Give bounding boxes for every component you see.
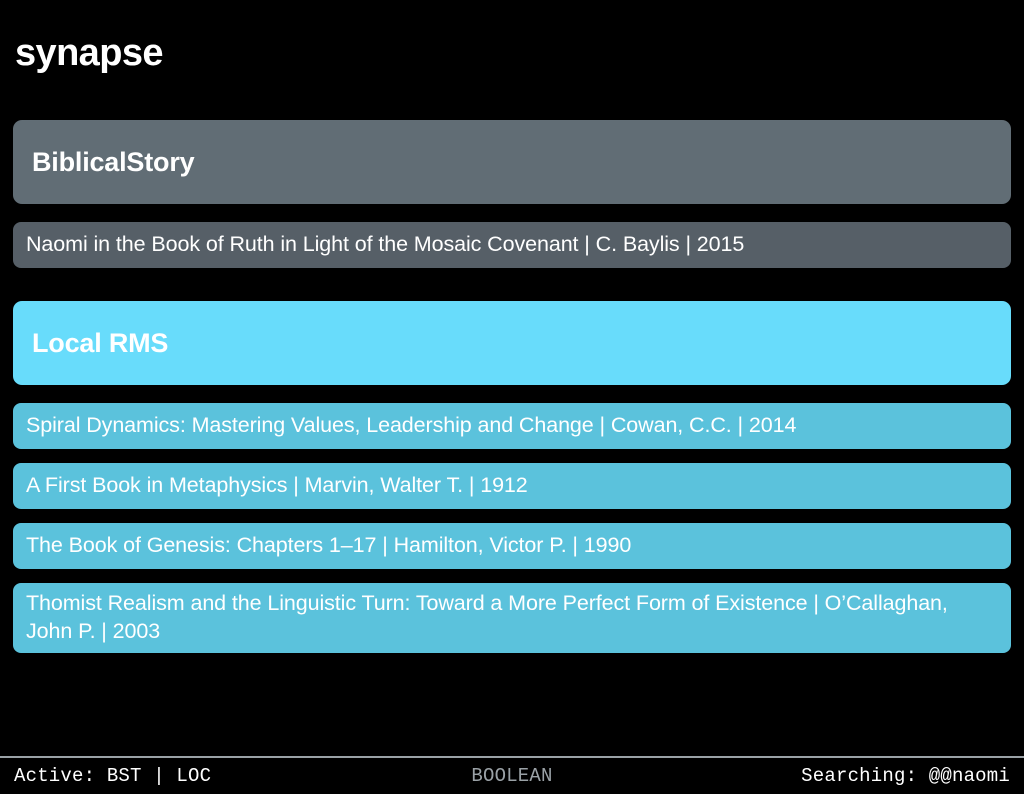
section-title: BiblicalStory — [32, 147, 194, 178]
status-active-sources: Active: BST | LOC — [14, 765, 211, 787]
result-list-biblicalstory: Naomi in the Book of Ruth in Light of th… — [13, 222, 1011, 268]
section-header-biblicalstory[interactable]: BiblicalStory — [13, 120, 1011, 204]
app-logo: synapse — [15, 34, 1024, 72]
brand-bar: synapse — [0, 0, 1024, 120]
result-row[interactable]: Thomist Realism and the Linguistic Turn:… — [13, 583, 1011, 653]
section-header-local-rms[interactable]: Local RMS — [13, 301, 1011, 385]
result-row[interactable]: Spiral Dynamics: Mastering Values, Leade… — [13, 403, 1011, 449]
status-bar: Active: BST | LOC BOOLEAN Searching: @@n… — [0, 756, 1024, 794]
result-row[interactable]: A First Book in Metaphysics | Marvin, Wa… — [13, 463, 1011, 509]
section-local-rms: Local RMSSpiral Dynamics: Mastering Valu… — [13, 301, 1011, 653]
result-list-local-rms: Spiral Dynamics: Mastering Values, Leade… — [13, 403, 1011, 653]
results-container: BiblicalStoryNaomi in the Book of Ruth i… — [0, 120, 1024, 653]
section-title: Local RMS — [32, 328, 168, 359]
status-search-query: Searching: @@naomi — [801, 765, 1010, 787]
result-row[interactable]: The Book of Genesis: Chapters 1–17 | Ham… — [13, 523, 1011, 569]
section-biblicalstory: BiblicalStoryNaomi in the Book of Ruth i… — [13, 120, 1011, 268]
result-row[interactable]: Naomi in the Book of Ruth in Light of th… — [13, 222, 1011, 268]
